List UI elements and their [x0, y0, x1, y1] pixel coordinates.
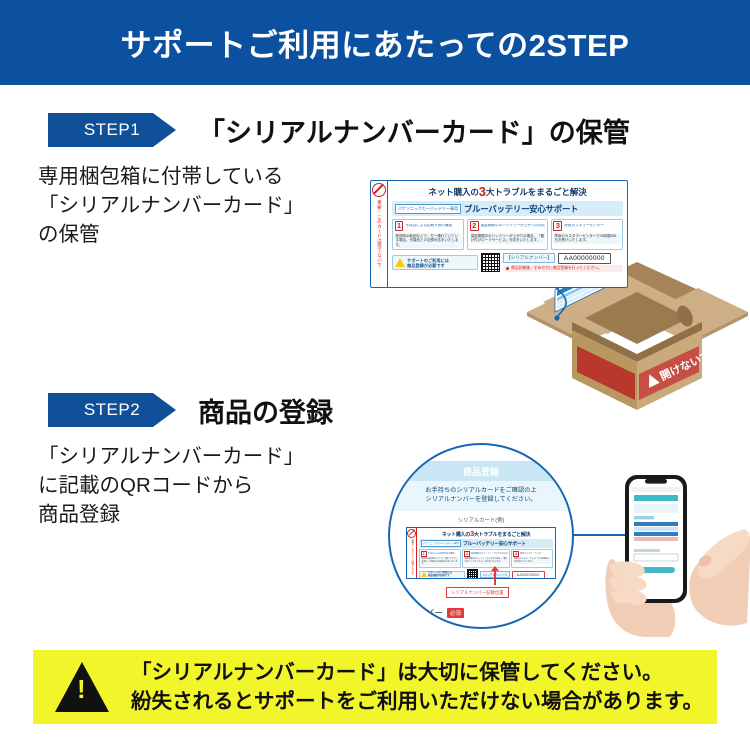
warning-triangle-icon [55, 662, 109, 712]
card-benefit-1-text: 配送時の転倒などで、万一濡れていている場合、代替品との交換対応をいたします。 [395, 233, 462, 248]
card-benefit-columns: 1 不具合による初期不良の確認 配送時の転倒などで、万一濡れていている場合、代替… [392, 219, 623, 251]
mini-benefit-1-number: 1 [421, 551, 427, 557]
registration-instruction: お手持ちのシリアルカードをご確認の上 シリアルナンバーを登録してください。 [390, 481, 572, 511]
step2-illustration: 商品登録 お手持ちのシリアルカードをご確認の上 シリアルナンバーを登録してくださ… [380, 435, 750, 635]
mini-benefit-1: 1 不具合による初期不良の確認 配送時の転倒などで、万一濡れていている場合、代替… [419, 549, 461, 568]
mini-registration-note: サポートのご利用には 商品登録が必要です [419, 571, 465, 579]
mini-benefit-2-head: 2 保証期間中のバッテリーが上がりの対応 [464, 551, 508, 557]
card-benefit-1-title: 不具合による初期不良の確認 [405, 224, 452, 228]
mini-note-line-2: 商品登録が必要です [428, 574, 450, 577]
registration-mini-card: 重要｜このカードは捨てないで ネット購入の3大トラブルをまるごと解決 パナソニッ… [406, 527, 556, 579]
card-benefit-2-number: 2 [470, 221, 479, 231]
card-brand-tag: パナソニックカーバッテリー専用 [395, 204, 461, 214]
card-note-line-2: 商品登録が必要です [407, 263, 445, 268]
mini-benefit-2-text: 保証期間中のバッテリーが上がりの場合、「駆け付けロードサービス」対応をいたします… [464, 558, 508, 564]
card-benefit-3-head: 3 専用カスタマーセンター [553, 221, 620, 231]
card-headline-post: 大トラブルをまるごと解決 [486, 187, 587, 197]
mini-card-headline: ネット購入の3大トラブルをまるごと解決 [419, 529, 553, 538]
mini-card-brand-tag: パナソニックカーバッテリー専用 [421, 540, 461, 547]
step1-header: STEP1 「シリアルナンバーカード」の保管 [0, 110, 750, 150]
registration-instruction-line-1: お手持ちのシリアルカードをご確認の上 [425, 487, 536, 494]
card-benefit-2-head: 2 保証期間中のバッテリーが上がりの対応 [470, 221, 546, 231]
registration-instruction-line-2: シリアルナンバーを登録してください。 [426, 496, 537, 503]
bottom-warning-line-1: 「シリアルナンバーカード」は大切に保管してください。 [131, 658, 703, 687]
serial-number-value: AA00000000 [558, 253, 611, 264]
card-benefit-3-text: 専用のカスタマーセンターで24時間365日お受けいたします。 [553, 233, 620, 244]
mini-benefit-3-head: 3 専用カスタマーセンター [513, 551, 551, 557]
qr-code-icon-mini [467, 569, 478, 578]
mini-benefit-1-title: 不具合による初期不良の確認 [428, 552, 455, 555]
mini-benefit-3-text: 専用のカスタマーセンターで24時間365日お受けいたします。 [513, 558, 551, 564]
registration-card-caption: シリアルカード(例) [390, 516, 572, 524]
mini-card-side-note: 重要｜このカードは捨てないで [410, 539, 413, 575]
card-benefit-2-text: 保証期間中のバッテリーが上がりの場合、「駆け付けロードサービス」対応をいたします… [470, 233, 546, 244]
card-benefit-3-number: 3 [553, 221, 562, 231]
bottom-warning-box: 「シリアルナンバーカード」は大切に保管してください。 紛失されるとサポートをご利… [33, 650, 717, 724]
card-brand-name: ブルーバッテリー安心サポート [464, 203, 578, 215]
card-benefit-3: 3 専用カスタマーセンター 専用のカスタマーセンターで24時間365日お受けいた… [551, 219, 623, 251]
registration-bottom-row: ルナンバー 必須 [400, 607, 464, 619]
bottom-warning-line-2: 紛失されるとサポートをご利用いただけない場合があります。 [131, 687, 703, 716]
step2-header: STEP2 商品の登録 [0, 390, 750, 430]
card-bottom-row: サポートのご利用には 商品登録が必要です 【シリアルナンバー】 AA000000… [392, 253, 623, 273]
mini-benefit-1-head: 1 不具合による初期不良の確認 [421, 551, 459, 557]
serial-location-callout: シリアルナンバー記載位置 [446, 587, 509, 598]
mini-benefit-3: 3 専用カスタマーセンター 専用のカスタマーセンターで24時間365日お受けいた… [511, 549, 553, 568]
step1-title: 「シリアルナンバーカード」の保管 [198, 111, 630, 150]
card-headline: ネット購入の3大トラブルをまるごと解決 [392, 184, 623, 199]
product-registration-circle: 商品登録 お手持ちのシリアルカードをご確認の上 シリアルナンバーを登録してくださ… [388, 443, 574, 629]
mini-registration-note-text: サポートのご利用には 商品登録が必要です [428, 572, 452, 577]
page-title: サポートご利用にあたっての2STEP [121, 20, 630, 65]
serial-number-card: 重要｜このカードは捨てないで ネット購入の3大トラブルをまるごと解決 パナソニッ… [370, 180, 628, 288]
serial-location-arrow-icon [494, 571, 496, 585]
mini-benefit-2-title: 保証期間中のバッテリーが上がりの対応 [471, 552, 508, 555]
warning-triangle-icon-small [395, 258, 405, 267]
alert-dot-icon [506, 267, 509, 270]
mini-benefit-1-text: 配送時の転倒などで、万一濡れていている場合、代替品との交換対応をいたします。 [421, 558, 459, 566]
card-benefit-3-title: 専用カスタマーセンター [564, 224, 604, 228]
no-throw-away-icon-mini [407, 529, 416, 538]
card-main-area: ネット購入の3大トラブルをまるごと解決 パナソニックカーバッテリー専用 ブルーバ… [388, 181, 627, 287]
registration-panel-title: 商品登録 [390, 461, 572, 481]
card-headline-pre: ネット購入の [428, 187, 478, 197]
card-registration-note-text: サポートのご利用には 商品登録が必要です [407, 258, 449, 268]
mini-headline-pre: ネット購入の [442, 532, 470, 538]
serial-alert: 商品到着後、すみやかに商品登録を行ってください。 [503, 265, 623, 272]
step1-badge: STEP1 [48, 113, 176, 147]
step2-title: 商品の登録 [198, 391, 333, 430]
card-benefit-1-head: 1 不具合による初期不良の確認 [395, 221, 462, 231]
registration-panel: 商品登録 お手持ちのシリアルカードをご確認の上 シリアルナンバーを登録してくださ… [390, 445, 572, 627]
mini-card-columns: 1 不具合による初期不良の確認 配送時の転倒などで、万一濡れていている場合、代替… [419, 549, 553, 568]
serial-row: 【シリアルナンバー】 AA00000000 [503, 253, 623, 264]
card-benefit-2-title: 保証期間中のバッテリーが上がりの対応 [481, 224, 546, 228]
card-side-note: 重要｜このカードは捨てないで [377, 200, 382, 267]
required-badge: 必須 [447, 608, 464, 618]
qr-code-icon [481, 253, 500, 272]
mini-card-brand-row: パナソニックカーバッテリー専用 ブルーバッテリー安心サポート [419, 539, 553, 548]
step2-badge: STEP2 [48, 393, 176, 427]
serial-area: 【シリアルナンバー】 AA00000000 商品到着後、すみやかに商品登録を行っ… [503, 253, 623, 273]
serial-alert-text: 商品到着後、すみやかに商品登録を行ってください。 [511, 266, 602, 271]
mini-benefit-2: 2 保証期間中のバッテリーが上がりの対応 保証期間中のバッテリーが上がりの場合、… [462, 549, 510, 568]
card-registration-note: サポートのご利用には 商品登録が必要です [392, 255, 478, 270]
mini-headline-post: 大トラブルをまるごと解決 [474, 532, 530, 538]
mini-benefit-2-number: 2 [464, 551, 470, 557]
card-benefit-2: 2 保証期間中のバッテリーが上がりの対応 保証期間中のバッテリーが上がりの場合、… [467, 219, 548, 251]
warning-triangle-icon-mini [421, 572, 427, 577]
card-brand-row: パナソニックカーバッテリー専用 ブルーバッテリー安心サポート [392, 201, 623, 216]
card-benefit-1-number: 1 [395, 221, 404, 231]
mini-serial-value: AA00000000 [512, 571, 545, 579]
bottom-warning-text: 「シリアルナンバーカード」は大切に保管してください。 紛失されるとサポートをご利… [131, 658, 703, 716]
card-headline-number: 3 [479, 184, 486, 199]
registration-bottom-label: ルナンバー [400, 607, 443, 619]
mini-card-brand-name: ブルーバッテリー安心サポート [463, 540, 526, 547]
serial-number-label: 【シリアルナンバー】 [503, 253, 555, 263]
mini-card-important-strip: 重要｜このカードは捨てないで [407, 528, 417, 578]
mini-benefit-3-title: 専用カスタマーセンター [520, 552, 543, 555]
header-banner: サポートご利用にあたっての2STEP [0, 0, 750, 85]
mini-benefit-3-number: 3 [513, 551, 519, 557]
mini-card-main: ネット購入の3大トラブルをまるごと解決 パナソニックカーバッテリー専用 ブルーバ… [417, 528, 555, 578]
card-benefit-1: 1 不具合による初期不良の確認 配送時の転倒などで、万一濡れていている場合、代替… [392, 219, 464, 251]
no-throw-away-icon [372, 183, 386, 197]
hand-phone-illustration [585, 441, 750, 641]
mini-card-bottom-row: サポートのご利用には 商品登録が必要です 【シリアルナンバー】 AA000000… [419, 569, 553, 578]
step1-illustration: 開けないで 重要｜このカードは捨てないで ネット購入の3大トラブルをまるごと解決 [365, 175, 750, 415]
card-important-strip: 重要｜このカードは捨てないで [371, 181, 388, 287]
